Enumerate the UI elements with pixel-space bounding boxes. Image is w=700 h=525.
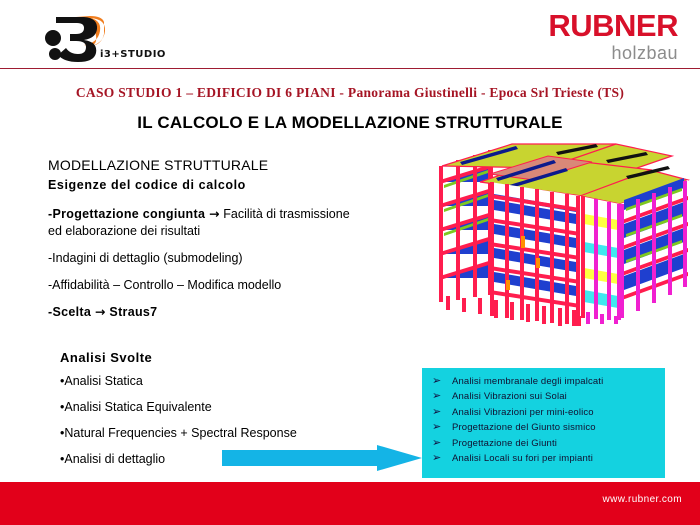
list-item-label: Analisi Locali su fori per impianti [452,454,593,465]
list-item: •Analisi Statica [60,374,420,388]
list-item-label: Analisi Vibrazioni sui Solai [452,392,567,403]
rubner-logo: RUBNER holzbau [548,10,678,62]
bullet-rest: Straus7 [106,305,158,319]
list-item-label: Analisi Vibrazioni per mini-eolico [452,408,594,419]
arrow-bullet-icon: ➢ [432,375,452,386]
bullet-item: -Indagini di dettaglio (submodeling) [48,250,438,267]
detailed-analyses-box: ➢ Analisi membranale degli impalcati ➢ A… [422,368,665,478]
i3-studio-logo: i3+STUDIO [28,12,158,62]
list-item-label: Analisi membranale degli impalcati [452,377,603,388]
case-study-subject-line: CASO STUDIO 1 – EDIFICIO DI 6 PIANI - Pa… [0,85,700,101]
structural-model-render [420,138,695,328]
bullet-item: -Scelta → Straus7 [48,304,438,321]
bullet-rest: Facilità di trasmissione [220,207,350,221]
header-divider [0,68,700,69]
slide-canvas: i3+STUDIO RUBNER holzbau CASO STUDIO 1 –… [0,0,700,525]
rubner-brand-sub: holzbau [548,44,678,62]
arrow-bullet-icon: ➢ [432,452,452,463]
rubner-brand-name: RUBNER [548,10,678,41]
right-arrow-icon: → [209,206,220,221]
arrow-bullet-icon: ➢ [432,390,452,401]
model-right-face [620,178,688,318]
slide-main-title: IL CALCOLO E LA MODELLAZIONE STRUTTURALE [0,113,700,133]
arrow-bullet-icon: ➢ [432,437,452,448]
model-right-wing [580,196,621,320]
model-front-left-facade [490,182,581,326]
list-item-label: Progettazione dei Giunti [452,439,557,450]
list-item: •Analisi Statica Equivalente [60,400,420,414]
model-left-face [438,150,493,302]
list-item: ➢ Progettazione dei Giunti [422,437,665,450]
footer-bar: www.rubner.com [0,482,700,525]
right-arrow-icon: → [95,304,106,319]
bullet-item: -Progettazione congiunta → Facilità di t… [48,206,438,240]
bullet-lead: -Affidabilità – Controllo – Modifica mod… [48,278,281,292]
section-subheading: Esigenze del codice di calcolo [48,178,246,192]
flow-arrow-shape [222,445,422,471]
structural-model-image [420,138,695,328]
list-item: ➢ Analisi Locali su fori per impianti [422,452,665,465]
bullet-lead: -Progettazione congiunta [48,207,209,221]
list-item: ➢ Progettazione del Giunto sismico [422,421,665,434]
footer-url: www.rubner.com [602,494,682,505]
list-item: ➢ Analisi membranale degli impalcati [422,375,665,388]
i3-studio-logo-text: i3+STUDIO [100,49,166,60]
bullet-item: -Affidabilità – Controllo – Modifica mod… [48,277,438,294]
analyses-heading: Analisi Svolte [60,350,152,365]
arrow-bullet-icon: ➢ [432,421,452,432]
arrow-bullet-icon: ➢ [432,406,452,417]
flow-arrow-icon [222,445,422,471]
bullet-lead: -Scelta [48,305,95,319]
list-item: ➢ Analisi Vibrazioni sui Solai [422,390,665,403]
bullet-lead: -Indagini di dettaglio (submodeling) [48,251,243,265]
section-heading: MODELLAZIONE STRUTTURALE [48,157,268,173]
list-item-label: Progettazione del Giunto sismico [452,423,596,434]
list-item: •Natural Frequencies + Spectral Response [60,426,420,440]
bullet-line2: ed elaborazione dei risultati [48,224,200,238]
list-item: ➢ Analisi Vibrazioni per mini-eolico [422,406,665,419]
requirements-bullet-list: -Progettazione congiunta → Facilità di t… [48,206,438,330]
